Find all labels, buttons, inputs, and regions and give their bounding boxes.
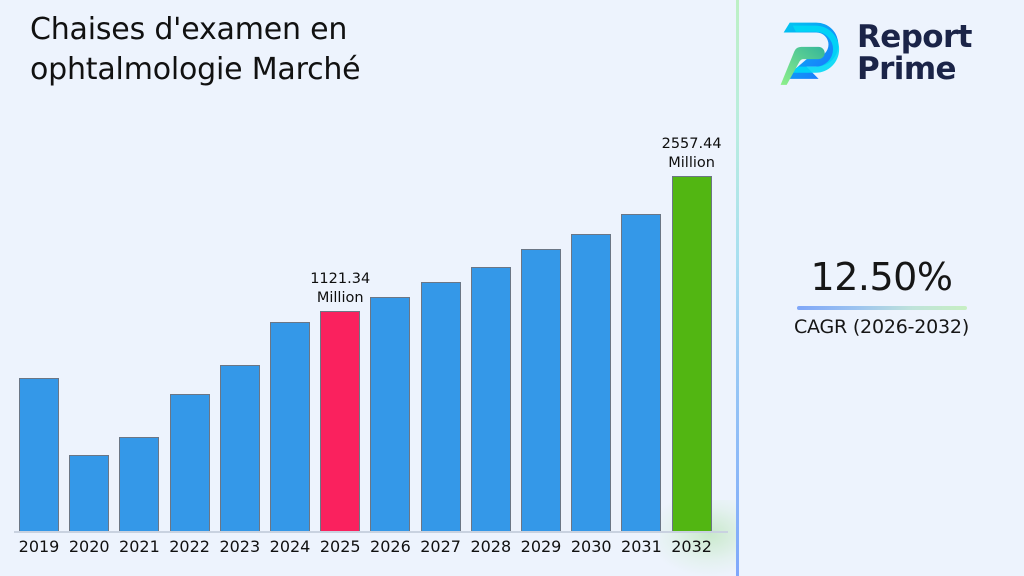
bar-2020	[69, 455, 109, 532]
bar-2026	[370, 297, 410, 532]
chart-infographic: Chaises d'examen en ophtalmologie Marché…	[0, 0, 1024, 576]
bar-2019	[19, 378, 59, 532]
x-tick-2023: 2023	[213, 537, 267, 556]
x-tick-2019: 2019	[12, 537, 66, 556]
bar-2032	[672, 176, 712, 532]
report-prime-logo-icon	[773, 15, 849, 91]
bar-2025	[320, 311, 360, 532]
value-label-2025: 1121.34 Million	[280, 270, 400, 308]
bar-2023	[220, 365, 260, 532]
cagr-caption: CAGR (2026-2032)	[739, 316, 1024, 338]
x-tick-2027: 2027	[414, 537, 468, 556]
x-tick-2026: 2026	[363, 537, 417, 556]
bar-2029	[521, 249, 561, 532]
cagr-block: 12.50% CAGR (2026-2032)	[739, 256, 1024, 338]
x-tick-2031: 2031	[614, 537, 668, 556]
bar-2028	[471, 267, 511, 532]
bar-2027	[421, 282, 461, 532]
x-tick-2021: 2021	[112, 537, 166, 556]
value-label-2032: 2557.44 Million	[632, 135, 752, 173]
cagr-divider-rule	[797, 306, 967, 310]
x-axis-line	[14, 531, 728, 533]
cagr-value: 12.50%	[739, 256, 1024, 299]
x-tick-2020: 2020	[62, 537, 116, 556]
chart-panel: Chaises d'examen en ophtalmologie Marché…	[0, 0, 737, 576]
bar-2021	[119, 437, 159, 532]
x-tick-2029: 2029	[514, 537, 568, 556]
x-tick-2030: 2030	[564, 537, 618, 556]
brand-name: Report Prime	[857, 21, 972, 85]
bar-chart-plot: 2019202020212022202320242025202620272028…	[0, 0, 737, 576]
summary-panel: Report Prime 12.50% CAGR (2026-2032)	[739, 0, 1024, 576]
x-tick-2032: 2032	[665, 537, 719, 556]
bar-2024	[270, 322, 310, 532]
bar-2031	[621, 214, 661, 532]
x-tick-2024: 2024	[263, 537, 317, 556]
x-tick-2028: 2028	[464, 537, 518, 556]
x-tick-2022: 2022	[163, 537, 217, 556]
bar-2022	[170, 394, 210, 532]
bar-2030	[571, 234, 611, 532]
brand-logo: Report Prime	[773, 12, 1013, 94]
x-tick-2025: 2025	[313, 537, 367, 556]
